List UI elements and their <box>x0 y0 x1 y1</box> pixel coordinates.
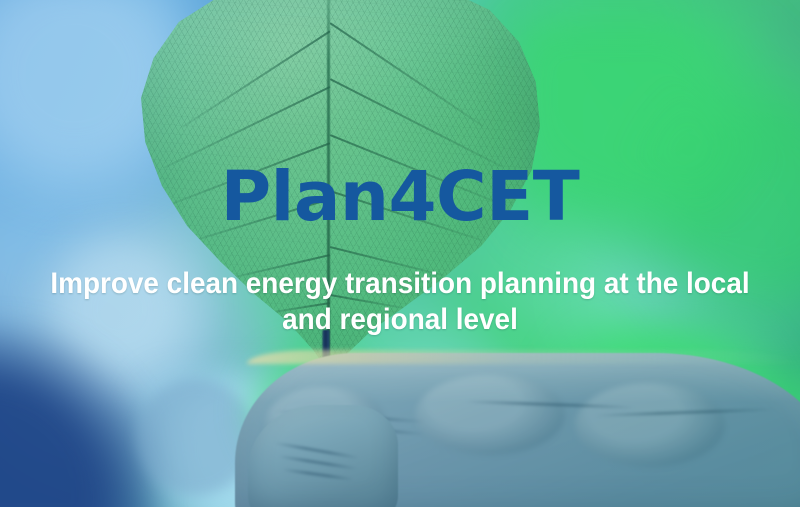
page-title: Plan4CET <box>0 163 800 232</box>
subtitle-line-2: and regional level <box>37 302 762 338</box>
banner-subtitle: Improve clean energy transition planning… <box>37 266 762 338</box>
banner-text-layer: Plan4CET Improve clean energy transition… <box>0 0 800 507</box>
plan4cet-hero-banner: Plan4CET Improve clean energy transition… <box>0 0 800 507</box>
subtitle-line-1: Improve clean energy transition planning… <box>37 266 762 302</box>
